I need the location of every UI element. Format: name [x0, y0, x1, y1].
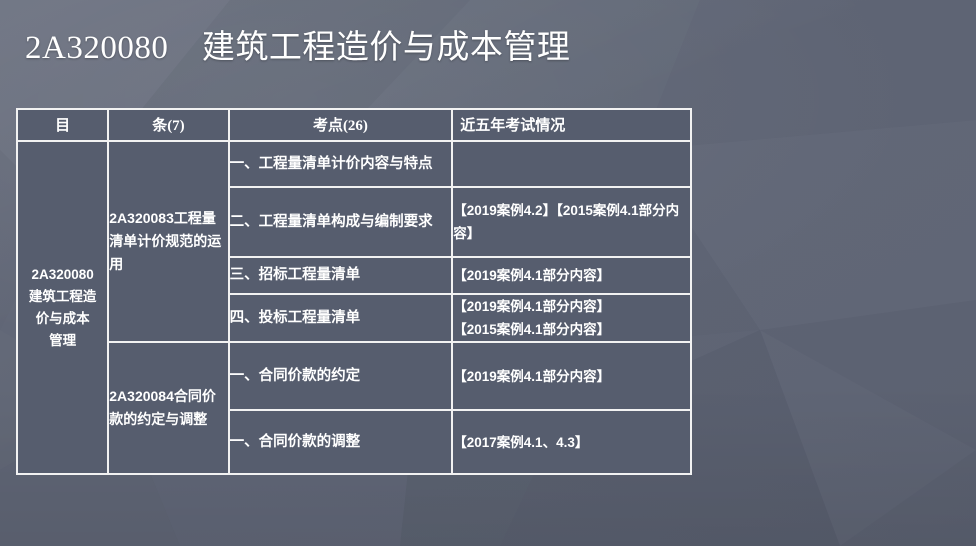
page-title: 2A320080 建筑工程造价与成本管理: [25, 28, 570, 68]
exam-record-cell: 【2019案例4.1部分内容】: [452, 342, 691, 410]
knowledge-point-cell: 一、合同价款的约定: [229, 342, 453, 410]
knowledge-point-cell: 四、投标工程量清单: [229, 294, 453, 342]
exam-record-line: 【2019案例4.1部分内容】: [453, 365, 690, 388]
column-header-knowledge-point: 考点(26): [229, 109, 453, 141]
knowledge-point-cell: 三、招标工程量清单: [229, 257, 453, 294]
exam-record-cell: [452, 141, 691, 187]
column-header-recent-exams: 近五年考试情况: [452, 109, 691, 141]
slide-canvas: 2A320080 建筑工程造价与成本管理 目 条(7) 考点(26) 近五年考试…: [0, 0, 976, 546]
exam-record-line: 【2019案例4.1部分内容】: [453, 295, 690, 318]
table-row: 2A320084合同价款的约定与调整 一、合同价款的约定 【2019案例4.1部…: [17, 342, 691, 410]
knowledge-point-cell: 一、工程量清单计价内容与特点: [229, 141, 453, 187]
column-header-catalog: 目: [17, 109, 108, 141]
exam-record-cell: 【2019案例4.1部分内容】: [452, 257, 691, 294]
section-cell-2A320084: 2A320084合同价款的约定与调整: [108, 342, 228, 474]
knowledge-table: 目 条(7) 考点(26) 近五年考试情况 2A320080 建筑工程造 价与成…: [16, 108, 692, 475]
table-header-row: 目 条(7) 考点(26) 近五年考试情况: [17, 109, 691, 141]
exam-record-cell: 【2019案例4.2】【2015案例4.1部分内容】: [452, 187, 691, 257]
section-cell-2A320083: 2A320083工程量清单计价规范的运用: [108, 141, 228, 342]
exam-record-line: 【2019案例4.1部分内容】: [453, 264, 690, 287]
knowledge-point-cell: 二、工程量清单构成与编制要求: [229, 187, 453, 257]
exam-record-line: 【2017案例4.1、4.3】: [453, 431, 690, 454]
table-row: 2A320080 建筑工程造 价与成本 管理 2A320083工程量清单计价规范…: [17, 141, 691, 187]
exam-record-line: 【2015案例4.1部分内容】: [453, 318, 690, 341]
column-header-clause: 条(7): [108, 109, 228, 141]
knowledge-table-container: 目 条(7) 考点(26) 近五年考试情况 2A320080 建筑工程造 价与成…: [16, 108, 692, 475]
knowledge-point-cell: 一、合同价款的调整: [229, 410, 453, 474]
chapter-cell: 2A320080 建筑工程造 价与成本 管理: [17, 141, 108, 474]
exam-record-cell: 【2019案例4.1部分内容】 【2015案例4.1部分内容】: [452, 294, 691, 342]
exam-record-cell: 【2017案例4.1、4.3】: [452, 410, 691, 474]
